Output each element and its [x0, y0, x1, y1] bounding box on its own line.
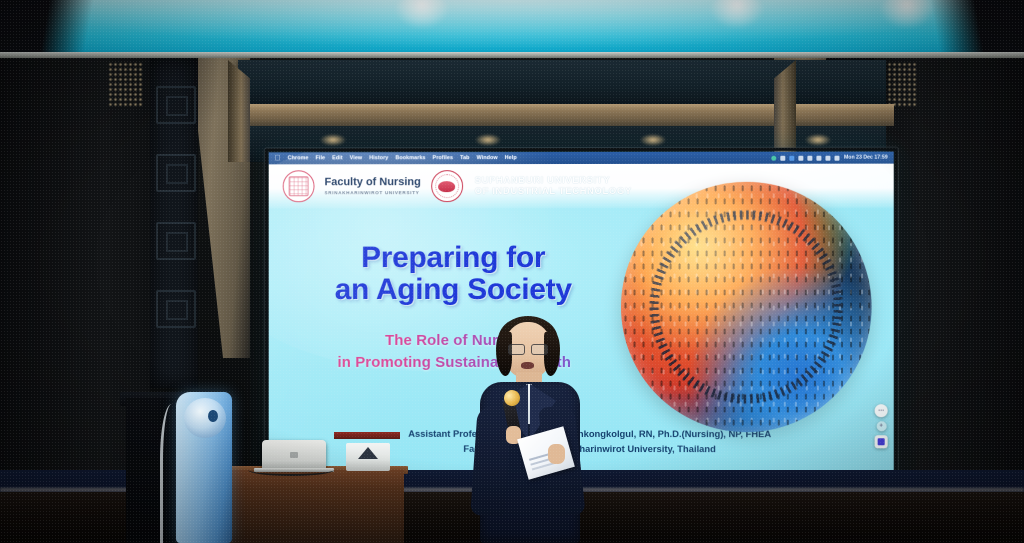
podium-table [222, 470, 404, 543]
white-presenter-device[interactable] [346, 443, 390, 471]
ceiling-glow [0, 0, 1024, 58]
speaker-hand-right [548, 444, 565, 464]
presentation-room-photo:  Chrome File Edit View History Bookmark… [0, 0, 1024, 543]
perforated-light-panel-left [108, 62, 142, 108]
downlight [640, 134, 666, 146]
perforated-light-panel-right [882, 62, 916, 108]
ceiling-cove-lighting [0, 0, 1024, 58]
white-equipment-cable [160, 404, 189, 543]
ceiling-corner-right [904, 0, 1024, 58]
ornamental-wall-panel-left [150, 58, 198, 388]
speaker-mouth [521, 362, 534, 369]
downlight [805, 134, 831, 146]
speaker-presenter [466, 322, 594, 543]
white-equipment-head [184, 398, 226, 438]
downlight [475, 134, 501, 146]
speaker-eyeglasses [508, 344, 548, 353]
desk-cable [248, 464, 334, 476]
ceiling-corner-left [0, 0, 120, 58]
red-desk-panel [334, 432, 400, 439]
downlight [320, 134, 346, 146]
